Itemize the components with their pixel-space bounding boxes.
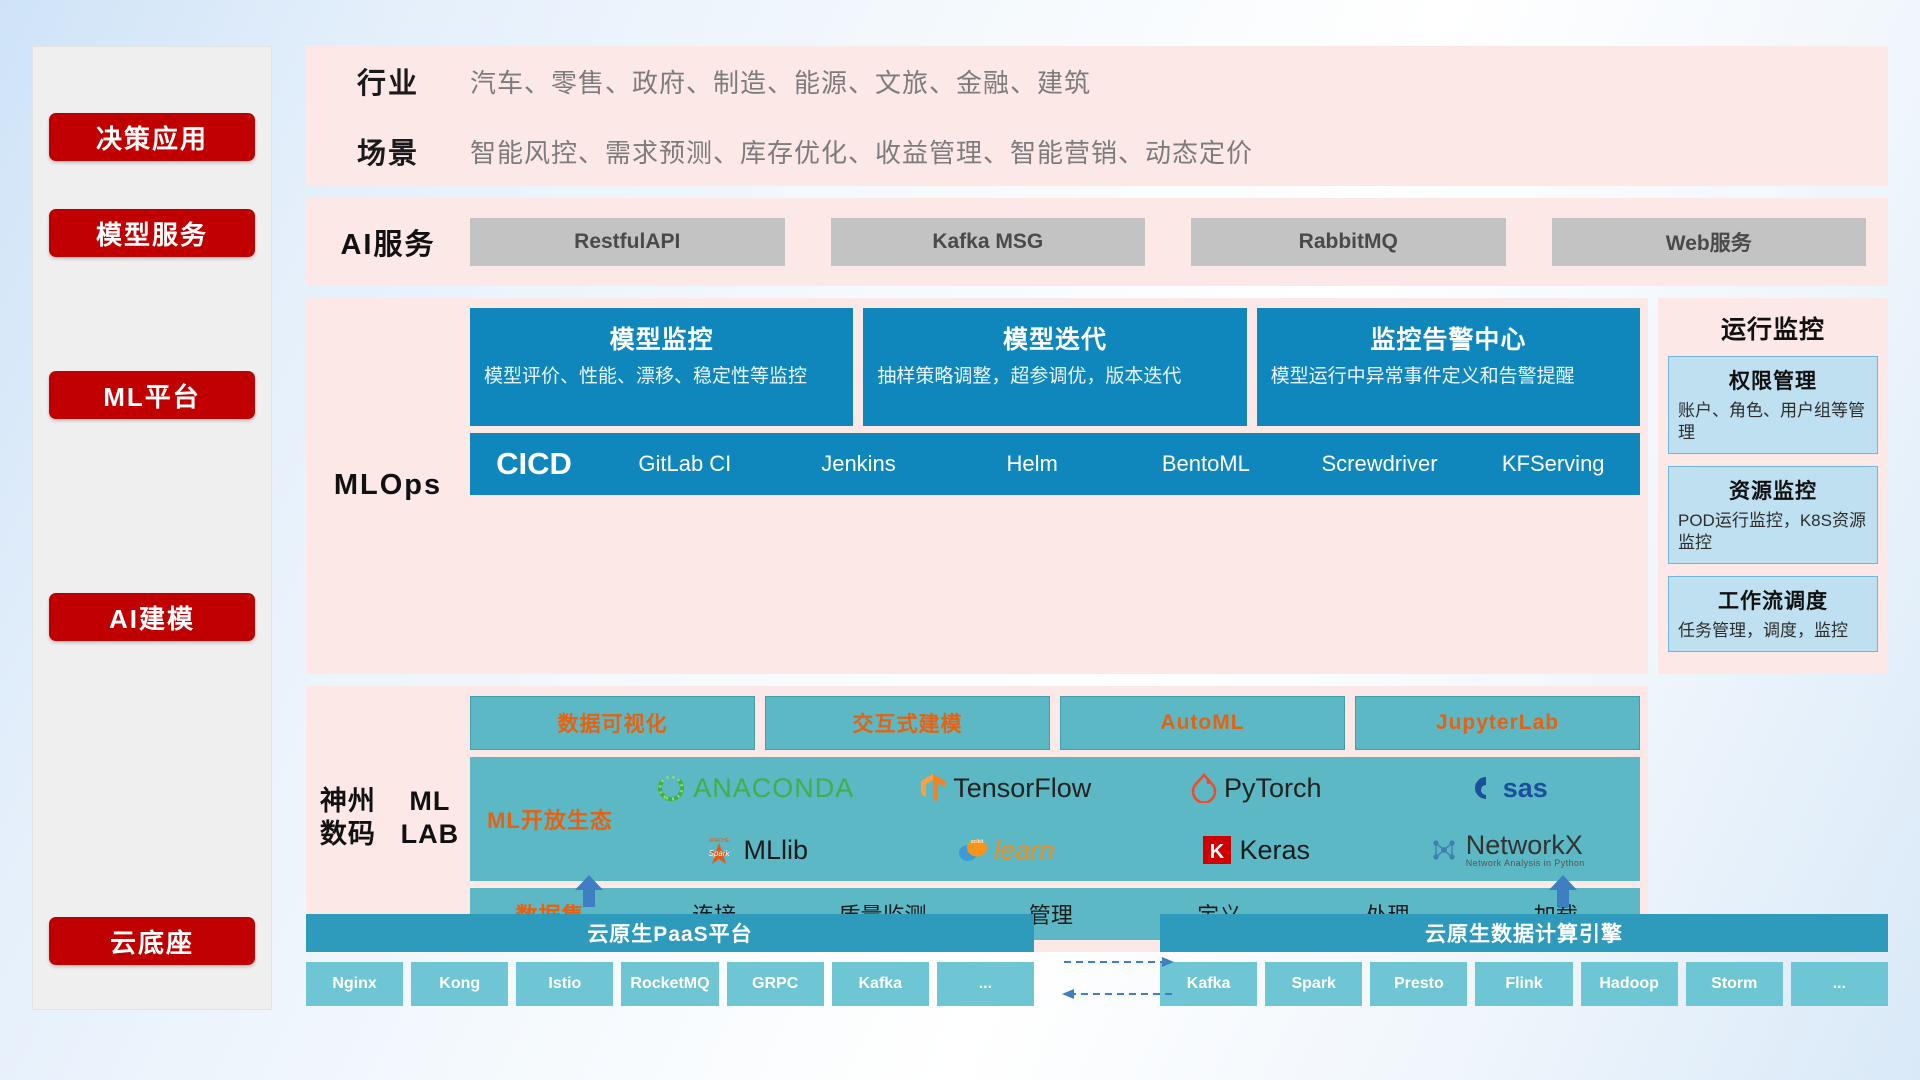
industry-row: 行业 汽车、零售、政府、制造、能源、文旅、金融、建筑 — [306, 46, 1888, 116]
anaconda-mark-icon — [656, 773, 686, 803]
rail-item-label: 模型服务 — [96, 215, 208, 252]
keras-mark-icon: K — [1202, 835, 1232, 865]
networkx-tagline: Network Analysis in Python — [1466, 859, 1585, 868]
paas-chip-rocketmq[interactable]: RocketMQ — [621, 962, 718, 1006]
card-title: 工作流调度 — [1678, 585, 1868, 615]
mlops-cards: 模型监控 模型评价、性能、漂移、稳定性等监控 模型迭代 抽样策略调整，超参调优，… — [470, 308, 1640, 426]
ai-service-chips: RestfulAPI Kafka MSG RabbitMQ Web服务 — [470, 218, 1888, 266]
mlops-card-alert-center[interactable]: 监控告警中心 模型运行中异常事件定义和告警提醒 — [1257, 308, 1640, 426]
logo-label: Keras — [1239, 835, 1310, 866]
service-chip-restfulapi[interactable]: RestfulAPI — [470, 218, 785, 266]
svg-text:Spark: Spark — [709, 849, 731, 858]
architecture-diagram: 决策应用 模型服务 ML平台 AI建模 云底座 行业 汽车、零售、政府、制造、能… — [0, 0, 1920, 1080]
data-engine-up-arrow-icon — [1546, 874, 1580, 908]
layer-rail: 决策应用 模型服务 ML平台 AI建模 云底座 — [32, 46, 272, 1010]
card-title: 模型迭代 — [877, 320, 1232, 356]
foundation-link-arrows — [1060, 948, 1176, 1008]
industry-value: 汽车、零售、政府、制造、能源、文旅、金融、建筑 — [470, 63, 1091, 100]
tensorflow-logo[interactable]: TensorFlow — [920, 773, 1091, 804]
tab-interactive-modeling[interactable]: 交互式建模 — [765, 696, 1050, 750]
logo-label: ANACONDA — [693, 773, 854, 804]
card-desc: 任务管理，调度，监控 — [1678, 620, 1868, 642]
engine-chip-presto[interactable]: Presto — [1370, 962, 1467, 1006]
pytorch-mark-icon — [1191, 773, 1217, 803]
paas-chip-more[interactable]: ... — [937, 962, 1034, 1006]
keras-logo[interactable]: K Keras — [1202, 835, 1310, 866]
card-desc: 账户、角色、用户组等管理 — [1678, 400, 1868, 444]
mlops-label: MLOps — [306, 308, 470, 662]
paas-group: 云原生PaaS平台 Nginx Kong Istio RocketMQ GRPC… — [306, 914, 1034, 1006]
mlops-content: 模型监控 模型评价、性能、漂移、稳定性等监控 模型迭代 抽样策略调整，超参调优，… — [470, 308, 1648, 662]
card-title: 资源监控 — [1678, 475, 1868, 505]
svg-text:APACHE: APACHE — [709, 838, 730, 844]
main-stack: 行业 汽车、零售、政府、制造、能源、文旅、金融、建筑 场景 智能风控、需求预测、… — [306, 46, 1888, 952]
anaconda-logo[interactable]: ANACONDA — [656, 773, 854, 804]
pytorch-logo[interactable]: PyTorch — [1191, 773, 1322, 804]
logo-label: learn — [994, 835, 1054, 866]
tab-automl[interactable]: AutoML — [1060, 696, 1345, 750]
rail-item-model-service[interactable]: 模型服务 — [49, 209, 255, 257]
rail-item-ml-platform[interactable]: ML平台 — [49, 371, 255, 419]
scikit-learn-mark-icon: scikit — [957, 835, 987, 865]
decision-apps-band: 行业 汽车、零售、政府、制造、能源、文旅、金融、建筑 场景 智能风控、需求预测、… — [306, 46, 1888, 186]
logo-label: MLlib — [743, 835, 808, 866]
ml-ecosystem-row: ML开放生态 ANACONDA — [470, 757, 1640, 881]
logo-label: sas — [1503, 773, 1548, 804]
scikit-learn-logo[interactable]: scikit learn — [957, 835, 1054, 866]
sas-mark-icon — [1466, 774, 1496, 802]
industry-label: 行业 — [306, 60, 470, 102]
scenario-label: 场景 — [306, 130, 470, 172]
logo-label: TensorFlow — [953, 773, 1091, 804]
rail-item-label: AI建模 — [109, 599, 195, 636]
cicd-item-helm[interactable]: Helm — [945, 452, 1119, 475]
card-title: 监控告警中心 — [1271, 320, 1626, 356]
networkx-logo[interactable]: NetworkX Network Analysis in Python — [1429, 832, 1585, 868]
paas-chip-kong[interactable]: Kong — [411, 962, 508, 1006]
paas-chip-kafka[interactable]: Kafka — [832, 962, 929, 1006]
ml-lab-brand-line1: 神州数码 — [306, 785, 390, 853]
rail-item-decision-apps[interactable]: 决策应用 — [49, 113, 255, 161]
mlops-row: MLOps 模型监控 模型评价、性能、漂移、稳定性等监控 模型迭代 抽样策略调整… — [306, 298, 1888, 674]
monitor-card-workflow[interactable]: 工作流调度 任务管理，调度，监控 — [1668, 576, 1878, 652]
ai-service-band: AI服务 RestfulAPI Kafka MSG RabbitMQ Web服务 — [306, 198, 1888, 286]
data-engine-group: 云原生数据计算引擎 Kafka Spark Presto Flink Hadoo… — [1160, 914, 1888, 1006]
card-desc: 抽样策略调整，超参调优，版本迭代 — [877, 364, 1232, 389]
engine-chip-spark[interactable]: Spark — [1265, 962, 1362, 1006]
run-monitoring-panel: 运行监控 权限管理 账户、角色、用户组等管理 资源监控 POD运行监控，K8S资… — [1658, 298, 1888, 674]
cicd-item-jenkins[interactable]: Jenkins — [772, 452, 946, 475]
run-monitoring-title: 运行监控 — [1668, 306, 1878, 356]
cicd-item-gitlab-ci[interactable]: GitLab CI — [598, 452, 772, 475]
ml-lab-tabs: 数据可视化 交互式建模 AutoML JupyterLab — [470, 696, 1640, 750]
scenario-value: 智能风控、需求预测、库存优化、收益管理、智能营销、动态定价 — [470, 133, 1253, 170]
svg-text:scikit: scikit — [971, 839, 984, 845]
paas-chip-grpc[interactable]: GRPC — [727, 962, 824, 1006]
paas-chip-istio[interactable]: Istio — [516, 962, 613, 1006]
card-desc: 模型评价、性能、漂移、稳定性等监控 — [484, 364, 839, 389]
ml-lab-brand-line2: ML LAB — [390, 785, 470, 853]
data-engine-chips: Kafka Spark Presto Flink Hadoop Storm ..… — [1160, 962, 1888, 1006]
cicd-bar: CICD GitLab CI Jenkins Helm BentoML Scre… — [470, 433, 1640, 495]
tensorflow-mark-icon — [920, 773, 946, 803]
service-chip-rabbitmq[interactable]: RabbitMQ — [1191, 218, 1506, 266]
rail-item-label: 决策应用 — [96, 119, 208, 156]
tab-jupyterlab[interactable]: JupyterLab — [1355, 696, 1640, 750]
cicd-item-screwdriver[interactable]: Screwdriver — [1293, 452, 1467, 475]
mlops-card-model-iteration[interactable]: 模型迭代 抽样策略调整，超参调优，版本迭代 — [863, 308, 1246, 426]
paas-chips: Nginx Kong Istio RocketMQ GRPC Kafka ... — [306, 962, 1034, 1006]
ml-ecosystem-logos: ANACONDA TensorFlow — [630, 757, 1640, 881]
ml-ecosystem-label: ML开放生态 — [470, 803, 630, 835]
cicd-item-kfserving[interactable]: KFServing — [1466, 452, 1640, 475]
engine-chip-flink[interactable]: Flink — [1475, 962, 1572, 1006]
monitor-card-permission[interactable]: 权限管理 账户、角色、用户组等管理 — [1668, 356, 1878, 454]
ai-service-label: AI服务 — [306, 221, 470, 263]
engine-chip-hadoop[interactable]: Hadoop — [1581, 962, 1678, 1006]
tab-data-visualization[interactable]: 数据可视化 — [470, 696, 755, 750]
rail-item-ai-modeling[interactable]: AI建模 — [49, 593, 255, 641]
scenario-row: 场景 智能风控、需求预测、库存优化、收益管理、智能营销、动态定价 — [306, 116, 1888, 186]
monitor-card-resource[interactable]: 资源监控 POD运行监控，K8S资源监控 — [1668, 466, 1878, 564]
mlops-band: MLOps 模型监控 模型评价、性能、漂移、稳定性等监控 模型迭代 抽样策略调整… — [306, 298, 1648, 674]
cicd-label: CICD — [470, 446, 598, 482]
service-chip-kafka-msg[interactable]: Kafka MSG — [831, 218, 1146, 266]
svg-text:K: K — [1210, 841, 1225, 863]
networkx-mark-icon — [1429, 835, 1459, 865]
spark-mllib-logo[interactable]: APACHE Spark MLlib — [702, 833, 808, 867]
card-desc: POD运行监控，K8S资源监控 — [1678, 510, 1868, 554]
engine-chip-more[interactable]: ... — [1791, 962, 1888, 1006]
rail-item-label: 云底座 — [110, 923, 194, 960]
logo-label: NetworkX — [1466, 832, 1585, 859]
data-engine-title: 云原生数据计算引擎 — [1160, 914, 1888, 952]
card-desc: 模型运行中异常事件定义和告警提醒 — [1271, 364, 1626, 389]
mlops-card-model-monitoring[interactable]: 模型监控 模型评价、性能、漂移、稳定性等监控 — [470, 308, 853, 426]
paas-up-arrow-icon — [572, 874, 606, 908]
paas-chip-nginx[interactable]: Nginx — [306, 962, 403, 1006]
logo-label: PyTorch — [1224, 773, 1322, 804]
card-title: 权限管理 — [1678, 365, 1868, 395]
apache-spark-mark-icon: APACHE Spark — [702, 833, 736, 867]
engine-chip-storm[interactable]: Storm — [1686, 962, 1783, 1006]
rail-item-label: ML平台 — [103, 377, 201, 414]
service-chip-web[interactable]: Web服务 — [1552, 218, 1867, 266]
sas-logo[interactable]: sas — [1466, 773, 1548, 804]
rail-item-cloud-base[interactable]: 云底座 — [49, 917, 255, 965]
paas-title: 云原生PaaS平台 — [306, 914, 1034, 952]
cicd-item-bentoml[interactable]: BentoML — [1119, 452, 1293, 475]
card-title: 模型监控 — [484, 320, 839, 356]
